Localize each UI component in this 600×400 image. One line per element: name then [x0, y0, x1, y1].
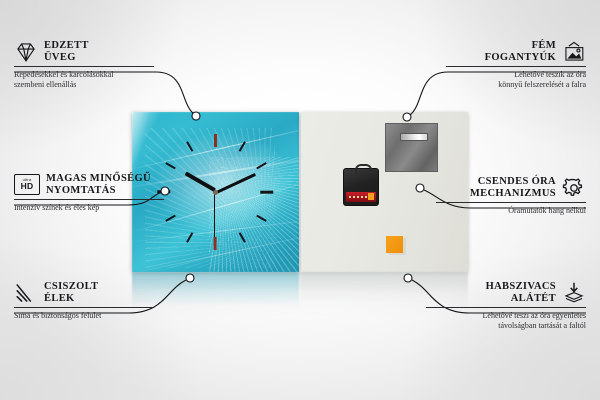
callout-silent-mechanism: CSENDES ÓRAMECHANIZMUS Óramutatók hang n…	[436, 176, 586, 216]
callout-divider	[426, 307, 586, 308]
clock-tick	[214, 237, 217, 250]
callout-header: EDZETTÜVEG	[14, 40, 154, 63]
picture-hanger-icon	[562, 41, 586, 63]
battery-terminal	[368, 193, 374, 200]
callout-header: FÉMFOGANTYÚK	[446, 40, 586, 63]
callout-divider	[436, 202, 586, 203]
clock-hour-hand	[184, 172, 215, 192]
callout-title: FÉMFOGANTYÚK	[485, 40, 556, 63]
callout-divider	[14, 199, 164, 200]
callout-metal-hangers: FÉMFOGANTYÚK Lehetővé teszik az órakönny…	[446, 40, 586, 89]
callout-title: EDZETTÜVEG	[44, 40, 89, 63]
product-image	[132, 112, 468, 272]
clock-center-cap	[213, 190, 218, 195]
clock-second-hand	[213, 192, 214, 241]
clock-mechanism	[343, 168, 379, 206]
clock-tick	[238, 232, 245, 243]
polished-edges-icon	[14, 282, 38, 304]
clock-tick	[165, 215, 176, 222]
callout-header: ultra HD MAGAS MINŐSÉGŰNYOMTATÁS	[14, 173, 164, 196]
callout-divider	[446, 66, 586, 67]
callout-subtitle: Óramutatók hang nélkül	[436, 206, 586, 216]
foam-layers-icon	[562, 282, 586, 304]
callout-tempered-glass: EDZETTÜVEG Repedésekkel és karcolásokkal…	[14, 40, 154, 89]
mechanism-hook	[355, 164, 372, 173]
clock-tick	[238, 141, 245, 152]
callout-divider	[14, 66, 154, 67]
callout-title: CSENDES ÓRAMECHANIZMUS	[470, 176, 556, 199]
clock-tick	[214, 134, 217, 147]
callout-foam-pad: HABSZIVACSALÁTÉT Lehetővé teszi az óra e…	[426, 281, 586, 330]
callout-subtitle: Lehetővé teszik az órakönnyű felszerelés…	[446, 70, 586, 89]
callout-title: HABSZIVACSALÁTÉT	[486, 281, 556, 304]
callout-divider	[14, 307, 154, 308]
infographic-canvas: EDZETTÜVEG Repedésekkel és karcolásokkal…	[0, 0, 600, 400]
product-reflection	[132, 272, 468, 318]
callout-subtitle: Sima és biztonságos felület	[14, 311, 154, 321]
metal-hanger-plate	[385, 123, 438, 172]
callout-header: CSISZOLTÉLEK	[14, 281, 154, 304]
diamond-icon	[14, 41, 38, 63]
ultra-hd-icon: ultra HD	[14, 174, 40, 195]
callout-subtitle: Intenzív színek és éles kép	[14, 203, 164, 213]
callout-high-quality-print: ultra HD MAGAS MINŐSÉGŰNYOMTATÁS Intenzí…	[14, 173, 164, 213]
mechanism-battery	[346, 192, 376, 202]
clock-tick	[256, 162, 267, 169]
clock-tick	[186, 141, 193, 152]
callout-polished-edges: CSISZOLTÉLEK Sima és biztonságos felület	[14, 281, 154, 321]
clock-tick	[165, 162, 176, 169]
callout-header: HABSZIVACSALÁTÉT	[426, 281, 586, 304]
callout-subtitle: Lehetővé teszi az óra egyenletestávolság…	[426, 311, 586, 330]
callout-header: CSENDES ÓRAMECHANIZMUS	[436, 176, 586, 199]
clock-minute-hand	[214, 173, 256, 195]
hanger-slot	[400, 133, 428, 141]
foam-spacer-pad	[386, 236, 403, 253]
clock-tick	[261, 191, 274, 194]
clock-tick	[256, 215, 267, 222]
callout-title: CSISZOLTÉLEK	[44, 281, 98, 304]
ultra-hd-icon-main: HD	[21, 182, 34, 191]
clock-tick	[186, 232, 193, 243]
reflection-front	[132, 272, 299, 306]
callout-subtitle: Repedésekkel és karcolásokkalszembeni el…	[14, 70, 154, 89]
callout-title: MAGAS MINŐSÉGŰNYOMTATÁS	[46, 173, 151, 196]
gear-icon	[562, 177, 586, 199]
